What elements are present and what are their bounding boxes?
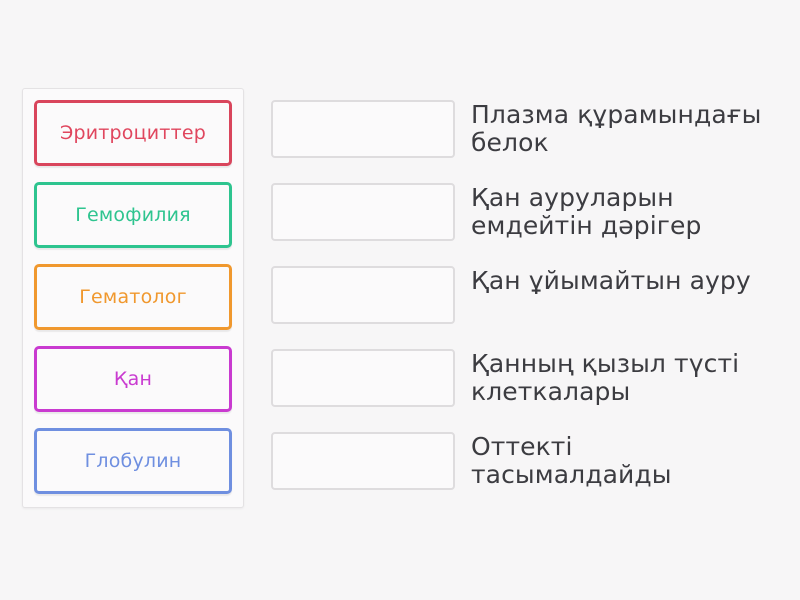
draggable-tile-qan[interactable]: Қан xyxy=(34,346,232,412)
match-text-3: Қан ұйымайтын ауру xyxy=(471,266,751,295)
draggable-tile-eritrotsitter[interactable]: Эритроциттер xyxy=(34,100,232,166)
draggable-tile-globulin[interactable]: Глобулин xyxy=(34,428,232,494)
dropzone-2[interactable] xyxy=(271,183,455,241)
match-row: Қанның қызыл түсті клеткалары xyxy=(271,349,781,407)
match-row: Оттекті тасымалдайды xyxy=(271,432,781,490)
match-row: Қан ұйымайтын ауру xyxy=(271,266,781,324)
tile-list: Эритроциттер Гемофилия Гематолог Қан Гло… xyxy=(34,100,232,494)
match-text-5: Оттекті тасымалдайды xyxy=(471,432,781,489)
draggable-tiles-tray: Эритроциттер Гемофилия Гематолог Қан Гло… xyxy=(22,88,244,508)
match-rows: Плазма құрамындағы белок Қан ауруларын е… xyxy=(271,100,781,490)
dropzone-4[interactable] xyxy=(271,349,455,407)
draggable-tile-gematolog[interactable]: Гематолог xyxy=(34,264,232,330)
match-row: Плазма құрамындағы белок xyxy=(271,100,781,158)
tile-label: Глобулин xyxy=(85,452,182,471)
dropzone-3[interactable] xyxy=(271,266,455,324)
match-text-1: Плазма құрамындағы белок xyxy=(471,100,781,157)
tile-label: Гемофилия xyxy=(75,206,191,225)
draggable-tile-gemofiliya[interactable]: Гемофилия xyxy=(34,182,232,248)
dropzone-5[interactable] xyxy=(271,432,455,490)
tile-label: Эритроциттер xyxy=(60,124,206,143)
match-text-4: Қанның қызыл түсті клеткалары xyxy=(471,349,781,406)
dropzone-1[interactable] xyxy=(271,100,455,158)
tile-label: Қан xyxy=(114,370,152,389)
match-text-2: Қан ауруларын емдейтін дәрігер xyxy=(471,183,781,240)
tile-label: Гематолог xyxy=(79,288,187,307)
match-row: Қан ауруларын емдейтін дәрігер xyxy=(271,183,781,241)
